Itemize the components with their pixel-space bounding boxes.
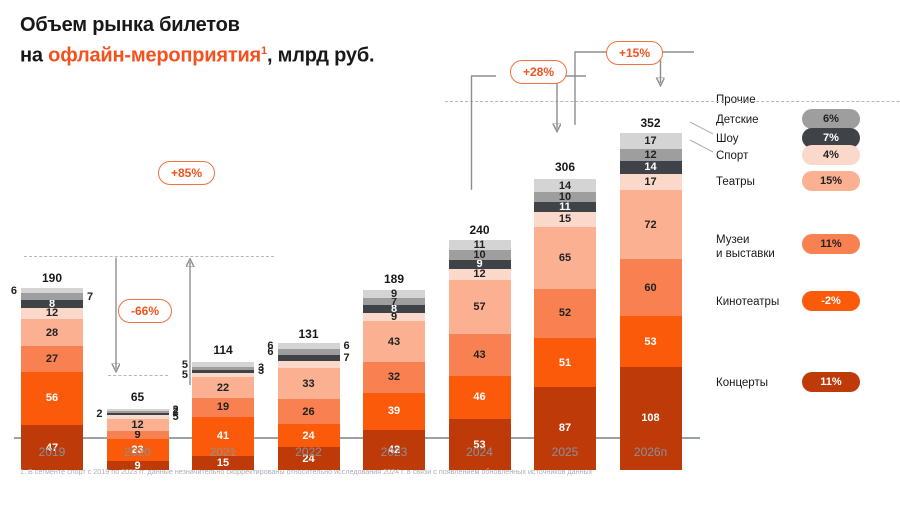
chart-root: Объем рынка билетов на офлайн-мероприяти… [0,0,900,506]
annotation-badge-plus15: +15% [606,41,663,65]
annotation-badge-minus66: -66% [118,299,172,323]
legend-leader-lines [0,0,900,470]
annotation-badge-plus28: +28% [510,60,567,84]
annotation-badge-plus85: +85% [158,161,215,185]
